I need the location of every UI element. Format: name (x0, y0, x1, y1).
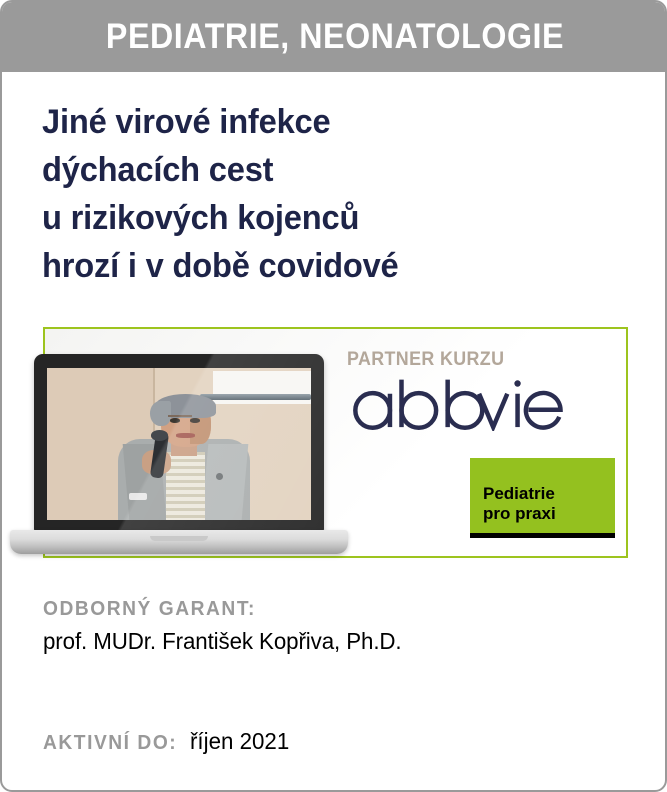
title-line-4: hrozí i v době covidové (42, 242, 618, 290)
active-until-label: AKTIVNÍ DO: (43, 732, 177, 755)
speaker-shirt (166, 452, 206, 520)
abbvie-logo-icon (347, 377, 565, 431)
speaker-lapel-badge (129, 493, 147, 501)
laptop-lid (34, 354, 324, 532)
laptop-trackpad-notch (150, 536, 208, 541)
laptop-video-thumbnail[interactable] (10, 354, 348, 554)
guarantor-block: ODBORNÝ GARANT: prof. MUDr. František Ko… (43, 598, 413, 655)
speaker-jacket-button (216, 473, 223, 480)
speaker-eye-right (190, 418, 201, 423)
active-until-value: říjen 2021 (190, 728, 289, 755)
guarantor-label: ODBORNÝ GARANT: (43, 598, 398, 621)
partner-block: PARTNER KURZU (347, 349, 627, 436)
scene-rail (200, 394, 311, 400)
course-card: PEDIATRIE, NEONATOLOGIE Jiné virové infe… (0, 0, 667, 792)
category-header: PEDIATRIE, NEONATOLOGIE (0, 0, 667, 72)
video-still (47, 368, 311, 520)
title-line-1: Jiné virové infekce (42, 98, 618, 146)
speaker-brow (168, 415, 192, 417)
speaker-eye-left (170, 418, 181, 423)
speaker-jacket-right-panel (202, 444, 248, 520)
category-title: PEDIATRIE, NEONATOLOGIE (106, 19, 564, 54)
active-until-block: AKTIVNÍ DO: říjen 2021 (43, 728, 292, 755)
guarantor-name: prof. MUDr. František Kopřiva, Ph.D. (43, 628, 402, 655)
laptop-base (10, 530, 348, 554)
speaker-mouth (176, 433, 194, 438)
journal-badge-text: Pediatrie pro praxi (483, 484, 556, 524)
title-line-2: dýchacích cest (42, 146, 618, 194)
partner-label: PARTNER KURZU (347, 349, 610, 371)
speaker-shirt-pattern (166, 452, 206, 520)
journal-badge: Pediatrie pro praxi (470, 458, 615, 538)
course-title: Jiné virové infekce dýchacích cest u riz… (42, 98, 642, 290)
title-line-3: u rizikových kojenců (42, 194, 618, 242)
video-still-scene (47, 368, 311, 520)
speaker-hair-side (150, 401, 171, 425)
